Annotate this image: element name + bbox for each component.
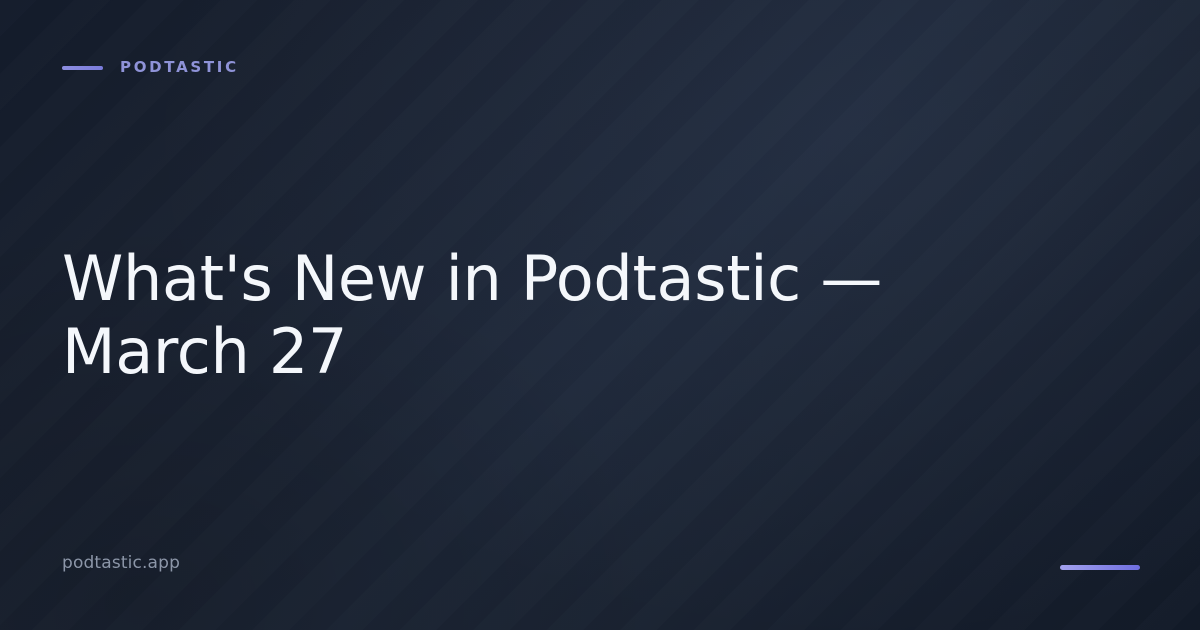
footer-accent-bar (1060, 565, 1140, 570)
brand-dash-icon (62, 66, 103, 70)
page-title: What's New in Podtastic — March 27 (62, 242, 1072, 388)
og-share-card: PODTASTIC What's New in Podtastic — Marc… (0, 0, 1200, 630)
footer-domain-label: podtastic.app (62, 555, 180, 572)
brand-wordmark: PODTASTIC (120, 60, 239, 75)
brand-eyebrow: PODTASTIC (62, 60, 239, 75)
